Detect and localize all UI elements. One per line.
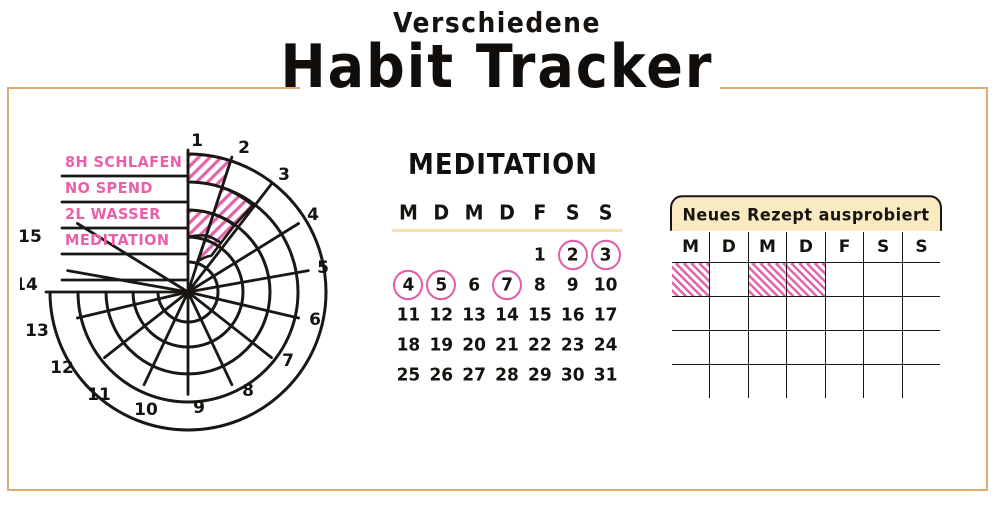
recipe-cell[interactable] — [864, 331, 903, 365]
habit-label-meditation: MEDITATION — [65, 229, 215, 256]
calendar-grid[interactable]: MDMDFSS123456789101112131415161718192021… — [392, 202, 622, 390]
svg-text:12: 12 — [50, 358, 74, 378]
calendar-day[interactable]: 22 — [523, 329, 556, 361]
recipe-cell[interactable] — [748, 365, 787, 400]
svg-text:2: 2 — [238, 138, 250, 158]
calendar-weekday-header: S — [589, 201, 622, 230]
svg-text:5: 5 — [317, 258, 329, 278]
recipe-cell[interactable] — [825, 365, 864, 400]
calendar-empty-cell — [458, 239, 491, 271]
recipe-cell[interactable] — [710, 297, 749, 331]
meditation-calendar[interactable]: MEDITATION MDMDFSS1234567891011121314151… — [392, 150, 622, 390]
recipe-cell[interactable] — [902, 331, 941, 365]
recipe-cell[interactable] — [864, 297, 903, 331]
recipe-cell[interactable] — [825, 331, 864, 365]
calendar-title: MEDITATION — [408, 149, 622, 182]
recipe-cell[interactable] — [825, 263, 864, 297]
calendar-day[interactable]: 26 — [425, 359, 458, 391]
recipe-cell[interactable] — [787, 365, 826, 400]
recipe-cell[interactable] — [864, 365, 903, 400]
calendar-weekday-header: S — [556, 201, 589, 230]
recipe-table-row — [671, 297, 941, 331]
calendar-day[interactable]: 31 — [589, 359, 622, 391]
recipe-cell[interactable] — [787, 297, 826, 331]
radial-habit-labels: 8H SCHLAFEN NO SPEND 2L WASSER MEDITATIO… — [65, 152, 215, 256]
habit-tracker-page: Verschiedene Habit Tracker — [0, 0, 994, 512]
recipe-cell-filled[interactable] — [748, 263, 787, 297]
page-title: Habit Tracker — [0, 36, 994, 98]
recipe-cell[interactable] — [710, 365, 749, 400]
calendar-empty-cell — [425, 239, 458, 271]
calendar-weekday-header: F — [523, 201, 556, 230]
svg-text:1: 1 — [191, 131, 203, 151]
calendar-weekday-header: M — [392, 201, 425, 230]
calendar-day[interactable]: 23 — [556, 329, 589, 361]
recipe-table-row — [671, 365, 941, 400]
calendar-day-circled[interactable]: 2 — [556, 239, 589, 271]
recipe-weekday-header: S — [864, 231, 903, 263]
svg-text:9: 9 — [193, 398, 205, 418]
recipe-weekday-header: F — [825, 231, 864, 263]
recipe-cell-filled[interactable] — [671, 263, 710, 297]
recipe-cell[interactable] — [902, 365, 941, 400]
calendar-empty-cell — [491, 239, 524, 271]
recipe-cell[interactable] — [671, 297, 710, 331]
calendar-day[interactable]: 16 — [556, 299, 589, 331]
calendar-day[interactable]: 12 — [425, 299, 458, 331]
recipe-cell[interactable] — [748, 297, 787, 331]
svg-text:13: 13 — [25, 321, 49, 341]
calendar-day-circled[interactable]: 3 — [589, 239, 622, 271]
recipe-table-row — [671, 263, 941, 297]
habit-label-sleep: 8H SCHLAFEN — [65, 151, 215, 178]
habit-label-no-spend: NO SPEND — [65, 177, 215, 204]
radial-habit-wheel[interactable]: 1 2 3 4 5 6 7 8 9 10 11 12 13 14 15 8H S… — [20, 130, 360, 460]
svg-text:4: 4 — [307, 205, 319, 225]
habit-label-water: 2L WASSER — [65, 203, 215, 230]
calendar-day[interactable]: 1 — [523, 239, 556, 271]
recipe-tracker[interactable]: Neues Rezept ausprobiert MDMDFSS — [670, 196, 942, 400]
calendar-day[interactable]: 21 — [491, 329, 524, 361]
calendar-empty-cell — [392, 239, 425, 271]
recipe-tracker-table[interactable]: MDMDFSS — [670, 230, 942, 400]
calendar-day[interactable]: 6 — [458, 269, 491, 301]
recipe-weekday-header: D — [710, 231, 749, 263]
calendar-day[interactable]: 13 — [458, 299, 491, 331]
recipe-cell[interactable] — [902, 297, 941, 331]
calendar-day[interactable]: 30 — [556, 359, 589, 391]
svg-text:8: 8 — [242, 381, 254, 401]
calendar-weekday-header: D — [425, 201, 458, 230]
calendar-day[interactable]: 9 — [556, 269, 589, 301]
recipe-cell[interactable] — [671, 365, 710, 400]
calendar-weekday-header: D — [491, 201, 524, 230]
calendar-day[interactable]: 11 — [392, 299, 425, 331]
recipe-table-row — [671, 331, 941, 365]
recipe-tracker-title: Neues Rezept ausprobiert — [670, 195, 942, 231]
calendar-day[interactable]: 18 — [392, 329, 425, 361]
svg-text:10: 10 — [134, 400, 158, 420]
recipe-weekday-header: S — [902, 231, 941, 263]
calendar-day[interactable]: 15 — [523, 299, 556, 331]
calendar-day[interactable]: 27 — [458, 359, 491, 391]
svg-text:7: 7 — [282, 351, 294, 371]
calendar-day[interactable]: 24 — [589, 329, 622, 361]
recipe-cell-filled[interactable] — [787, 263, 826, 297]
recipe-cell[interactable] — [671, 331, 710, 365]
calendar-weekday-header: M — [458, 201, 491, 230]
recipe-cell[interactable] — [825, 297, 864, 331]
calendar-day[interactable]: 19 — [425, 329, 458, 361]
recipe-weekday-header: D — [787, 231, 826, 263]
calendar-day-circled[interactable]: 4 — [392, 269, 425, 301]
recipe-cell[interactable] — [710, 263, 749, 297]
recipe-cell[interactable] — [864, 263, 903, 297]
calendar-day[interactable]: 25 — [392, 359, 425, 391]
calendar-day[interactable]: 10 — [589, 269, 622, 301]
calendar-day[interactable]: 8 — [523, 269, 556, 301]
svg-text:3: 3 — [278, 165, 290, 185]
calendar-day[interactable]: 14 — [491, 299, 524, 331]
recipe-cell[interactable] — [902, 263, 941, 297]
page-title-block: Verschiedene Habit Tracker — [0, 8, 994, 96]
recipe-cell[interactable] — [710, 331, 749, 365]
calendar-day[interactable]: 29 — [523, 359, 556, 391]
calendar-day[interactable]: 17 — [589, 299, 622, 331]
recipe-cell[interactable] — [748, 331, 787, 365]
recipe-header-row: MDMDFSS — [671, 231, 941, 263]
svg-text:6: 6 — [309, 310, 321, 330]
calendar-day[interactable]: 28 — [491, 359, 524, 391]
svg-text:14: 14 — [20, 275, 38, 295]
svg-text:15: 15 — [20, 227, 42, 247]
calendar-day[interactable]: 20 — [458, 329, 491, 361]
recipe-cell[interactable] — [787, 331, 826, 365]
calendar-day-circled[interactable]: 5 — [425, 269, 458, 301]
recipe-weekday-header: M — [671, 231, 710, 263]
svg-text:11: 11 — [87, 385, 111, 405]
recipe-weekday-header: M — [748, 231, 787, 263]
calendar-day-circled[interactable]: 7 — [491, 269, 524, 301]
